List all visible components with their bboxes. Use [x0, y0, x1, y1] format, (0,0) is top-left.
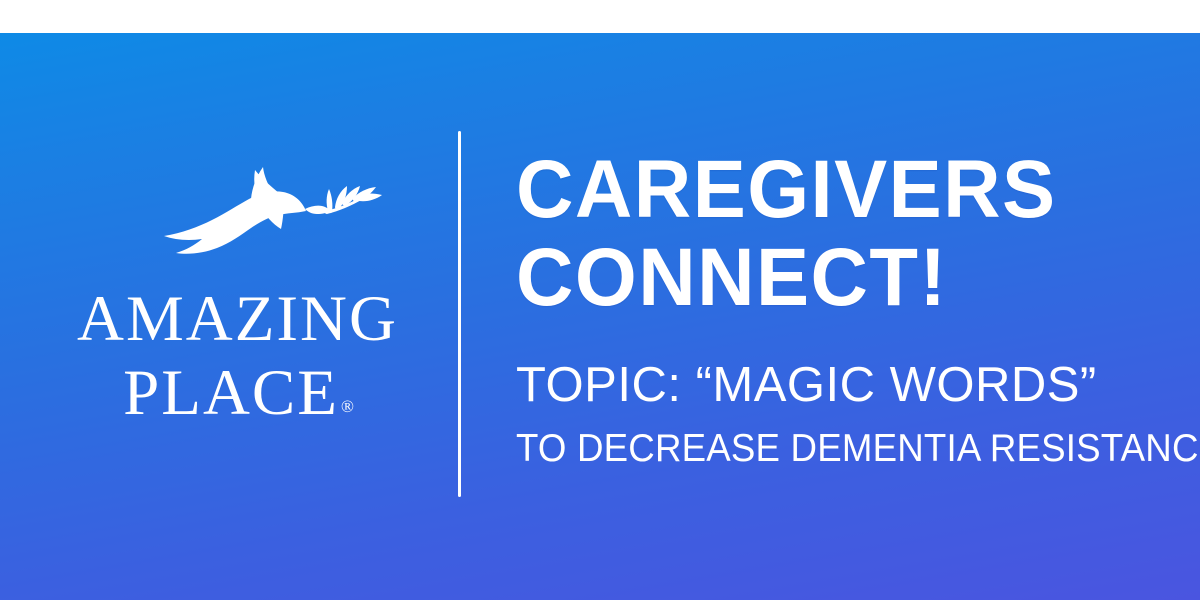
dove-with-olive-branch-icon — [156, 165, 386, 275]
logo-wordmark-place: PLACE® — [60, 361, 415, 426]
event-text-block: CAREGIVERS CONNECT! TOPIC: “MAGIC WORDS”… — [516, 150, 1186, 468]
headline-line-1: CAREGIVERS — [516, 150, 1166, 230]
registered-trademark-icon: ® — [341, 397, 354, 416]
logo-wordmark-amazing: AMAZING — [60, 287, 415, 352]
headline-line-2: CONNECT! — [516, 238, 1166, 318]
subtitle-line: TO DECREASE DEMENTIA RESISTANCE — [516, 410, 1146, 468]
topic-line: TOPIC: “MAGIC WORDS” — [516, 319, 1186, 410]
top-white-band — [0, 0, 1200, 33]
logo-wordmark-place-text: PLACE — [123, 357, 339, 429]
amazing-place-logo: AMAZING PLACE® — [60, 165, 415, 440]
vertical-divider — [458, 131, 461, 497]
event-banner: AMAZING PLACE® CAREGIVERS CONNECT! TOPIC… — [0, 0, 1200, 600]
